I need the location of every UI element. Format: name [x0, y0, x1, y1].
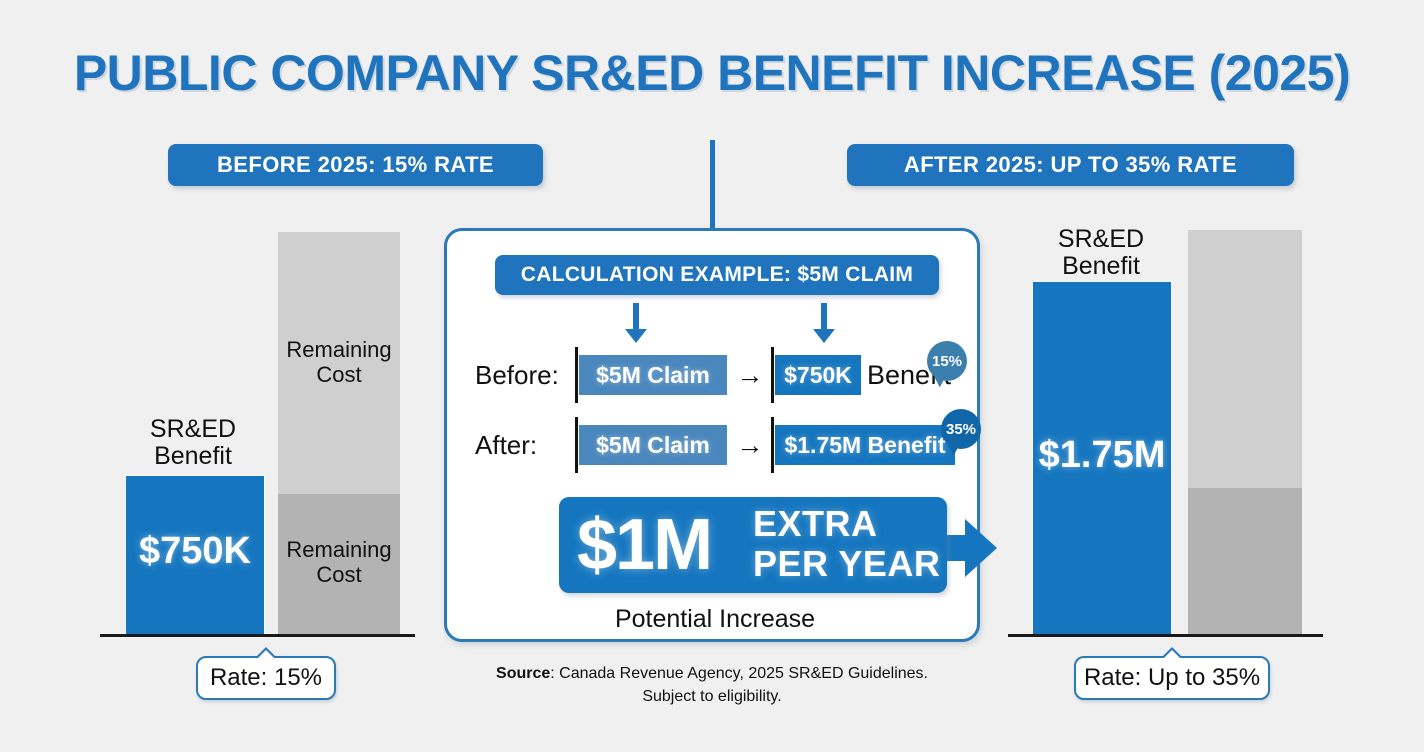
- right-callout-nub-icon: [1161, 647, 1183, 658]
- right-benefit-caption: SR&ED Benefit: [1032, 226, 1170, 280]
- right-bar-chart: SR&ED Benefit $1.75M: [1008, 228, 1328, 640]
- right-remaining-cost-lower-segment: [1188, 488, 1302, 634]
- calc-row-before-benefit-tick: [771, 347, 774, 403]
- right-benefit-value: $1.75M: [1033, 434, 1171, 477]
- calc-row-after-arrow-icon: →: [733, 417, 767, 473]
- bubble-tail-icon: [944, 441, 960, 456]
- left-chart-baseline: [100, 634, 415, 637]
- calc-row-after-claim-chip: $5M Claim: [579, 425, 727, 465]
- left-benefit-caption-line2: Benefit: [154, 442, 232, 470]
- calc-row-before-benefit-chip: $750K: [775, 355, 861, 395]
- extra-per-year-box: $1M EXTRA PER YEAR: [559, 497, 947, 593]
- calc-row-before-rate-bubble-text: 15%: [932, 353, 962, 370]
- left-remaining-cost-lower-label: Remaining Cost: [278, 538, 400, 587]
- right-benefit-bar: $1.75M: [1033, 282, 1171, 634]
- right-rate-callout-text: Rate: Up to 35%: [1084, 664, 1260, 692]
- calc-row-after-benefit-tick: [771, 417, 774, 473]
- before-rate-pill: BEFORE 2025: 15% RATE: [168, 144, 543, 186]
- left-bar-chart: Remaining Cost Remaining Cost SR&ED Bene…: [100, 228, 420, 640]
- extra-line-1: EXTRA: [753, 503, 878, 545]
- left-remaining-cost-lower-label-line2: Cost: [316, 562, 361, 587]
- calc-row-before-label: Before:: [475, 347, 565, 403]
- left-benefit-bar: $750K: [126, 476, 264, 634]
- left-benefit-value: $750K: [126, 530, 264, 573]
- after-rate-pill: AFTER 2025: UP TO 35% RATE: [847, 144, 1294, 186]
- claim-down-arrow-icon: [625, 303, 647, 345]
- extra-amount: $1M: [577, 501, 711, 589]
- calc-row-before-rate-bubble: 15%: [927, 341, 967, 381]
- left-benefit-caption-line1: SR&ED: [150, 415, 236, 443]
- infographic-canvas: PUBLIC COMPANY SR&ED BENEFIT INCREASE (2…: [0, 0, 1424, 752]
- calc-row-before: Before: $5M Claim → $750K Benefit 15%: [475, 347, 971, 403]
- calculation-panel-heading: CALCULATION EXAMPLE: $5M CLAIM: [495, 255, 939, 295]
- left-rate-callout: Rate: 15%: [196, 656, 336, 700]
- calc-row-after-rate-bubble: 35%: [941, 409, 981, 449]
- calc-row-after-claim-tick: [575, 417, 578, 473]
- calc-row-after-rate-bubble-text: 35%: [946, 421, 976, 438]
- calc-row-after-benefit-chip: $1.75M Benefit: [775, 425, 955, 465]
- left-remaining-cost-upper-label: Remaining Cost: [278, 338, 400, 387]
- left-callout-nub-icon: [255, 647, 277, 658]
- calculation-panel: CALCULATION EXAMPLE: $5M CLAIM Before: $…: [444, 228, 980, 642]
- right-benefit-caption-line2: Benefit: [1062, 252, 1140, 280]
- source-note: Source: Canada Revenue Agency, 2025 SR&E…: [444, 662, 980, 708]
- calc-row-before-claim-chip: $5M Claim: [579, 355, 727, 395]
- bubble-tail-icon: [930, 373, 946, 388]
- right-rate-callout: Rate: Up to 35%: [1074, 656, 1270, 700]
- left-remaining-cost-lower-label-line1: Remaining: [286, 537, 391, 562]
- left-remaining-cost-upper-label-line1: Remaining: [286, 337, 391, 362]
- right-remaining-cost-upper-segment: [1188, 230, 1302, 488]
- calc-row-after: After: $5M Claim → $1.75M Benefit 35%: [475, 417, 971, 473]
- calc-row-before-arrow-icon: →: [733, 347, 767, 403]
- source-line2: Subject to eligibility.: [642, 688, 781, 705]
- page-title: PUBLIC COMPANY SR&ED BENEFIT INCREASE (2…: [0, 44, 1424, 102]
- source-prefix: Source: [496, 665, 550, 682]
- potential-increase-caption: Potential Increase: [447, 605, 983, 634]
- left-benefit-caption: SR&ED Benefit: [124, 416, 262, 470]
- right-chart-baseline: [1008, 634, 1323, 637]
- calc-row-before-claim-tick: [575, 347, 578, 403]
- extra-line-2: PER YEAR: [753, 543, 940, 585]
- left-rate-callout-text: Rate: 15%: [210, 664, 322, 692]
- calc-row-after-label: After:: [475, 417, 565, 473]
- left-remaining-cost-upper-label-line2: Cost: [316, 362, 361, 387]
- right-benefit-caption-line1: SR&ED: [1058, 225, 1144, 253]
- source-text: : Canada Revenue Agency, 2025 SR&ED Guid…: [550, 665, 928, 682]
- benefit-down-arrow-icon: [813, 303, 835, 345]
- panel-connector-line: [710, 140, 715, 230]
